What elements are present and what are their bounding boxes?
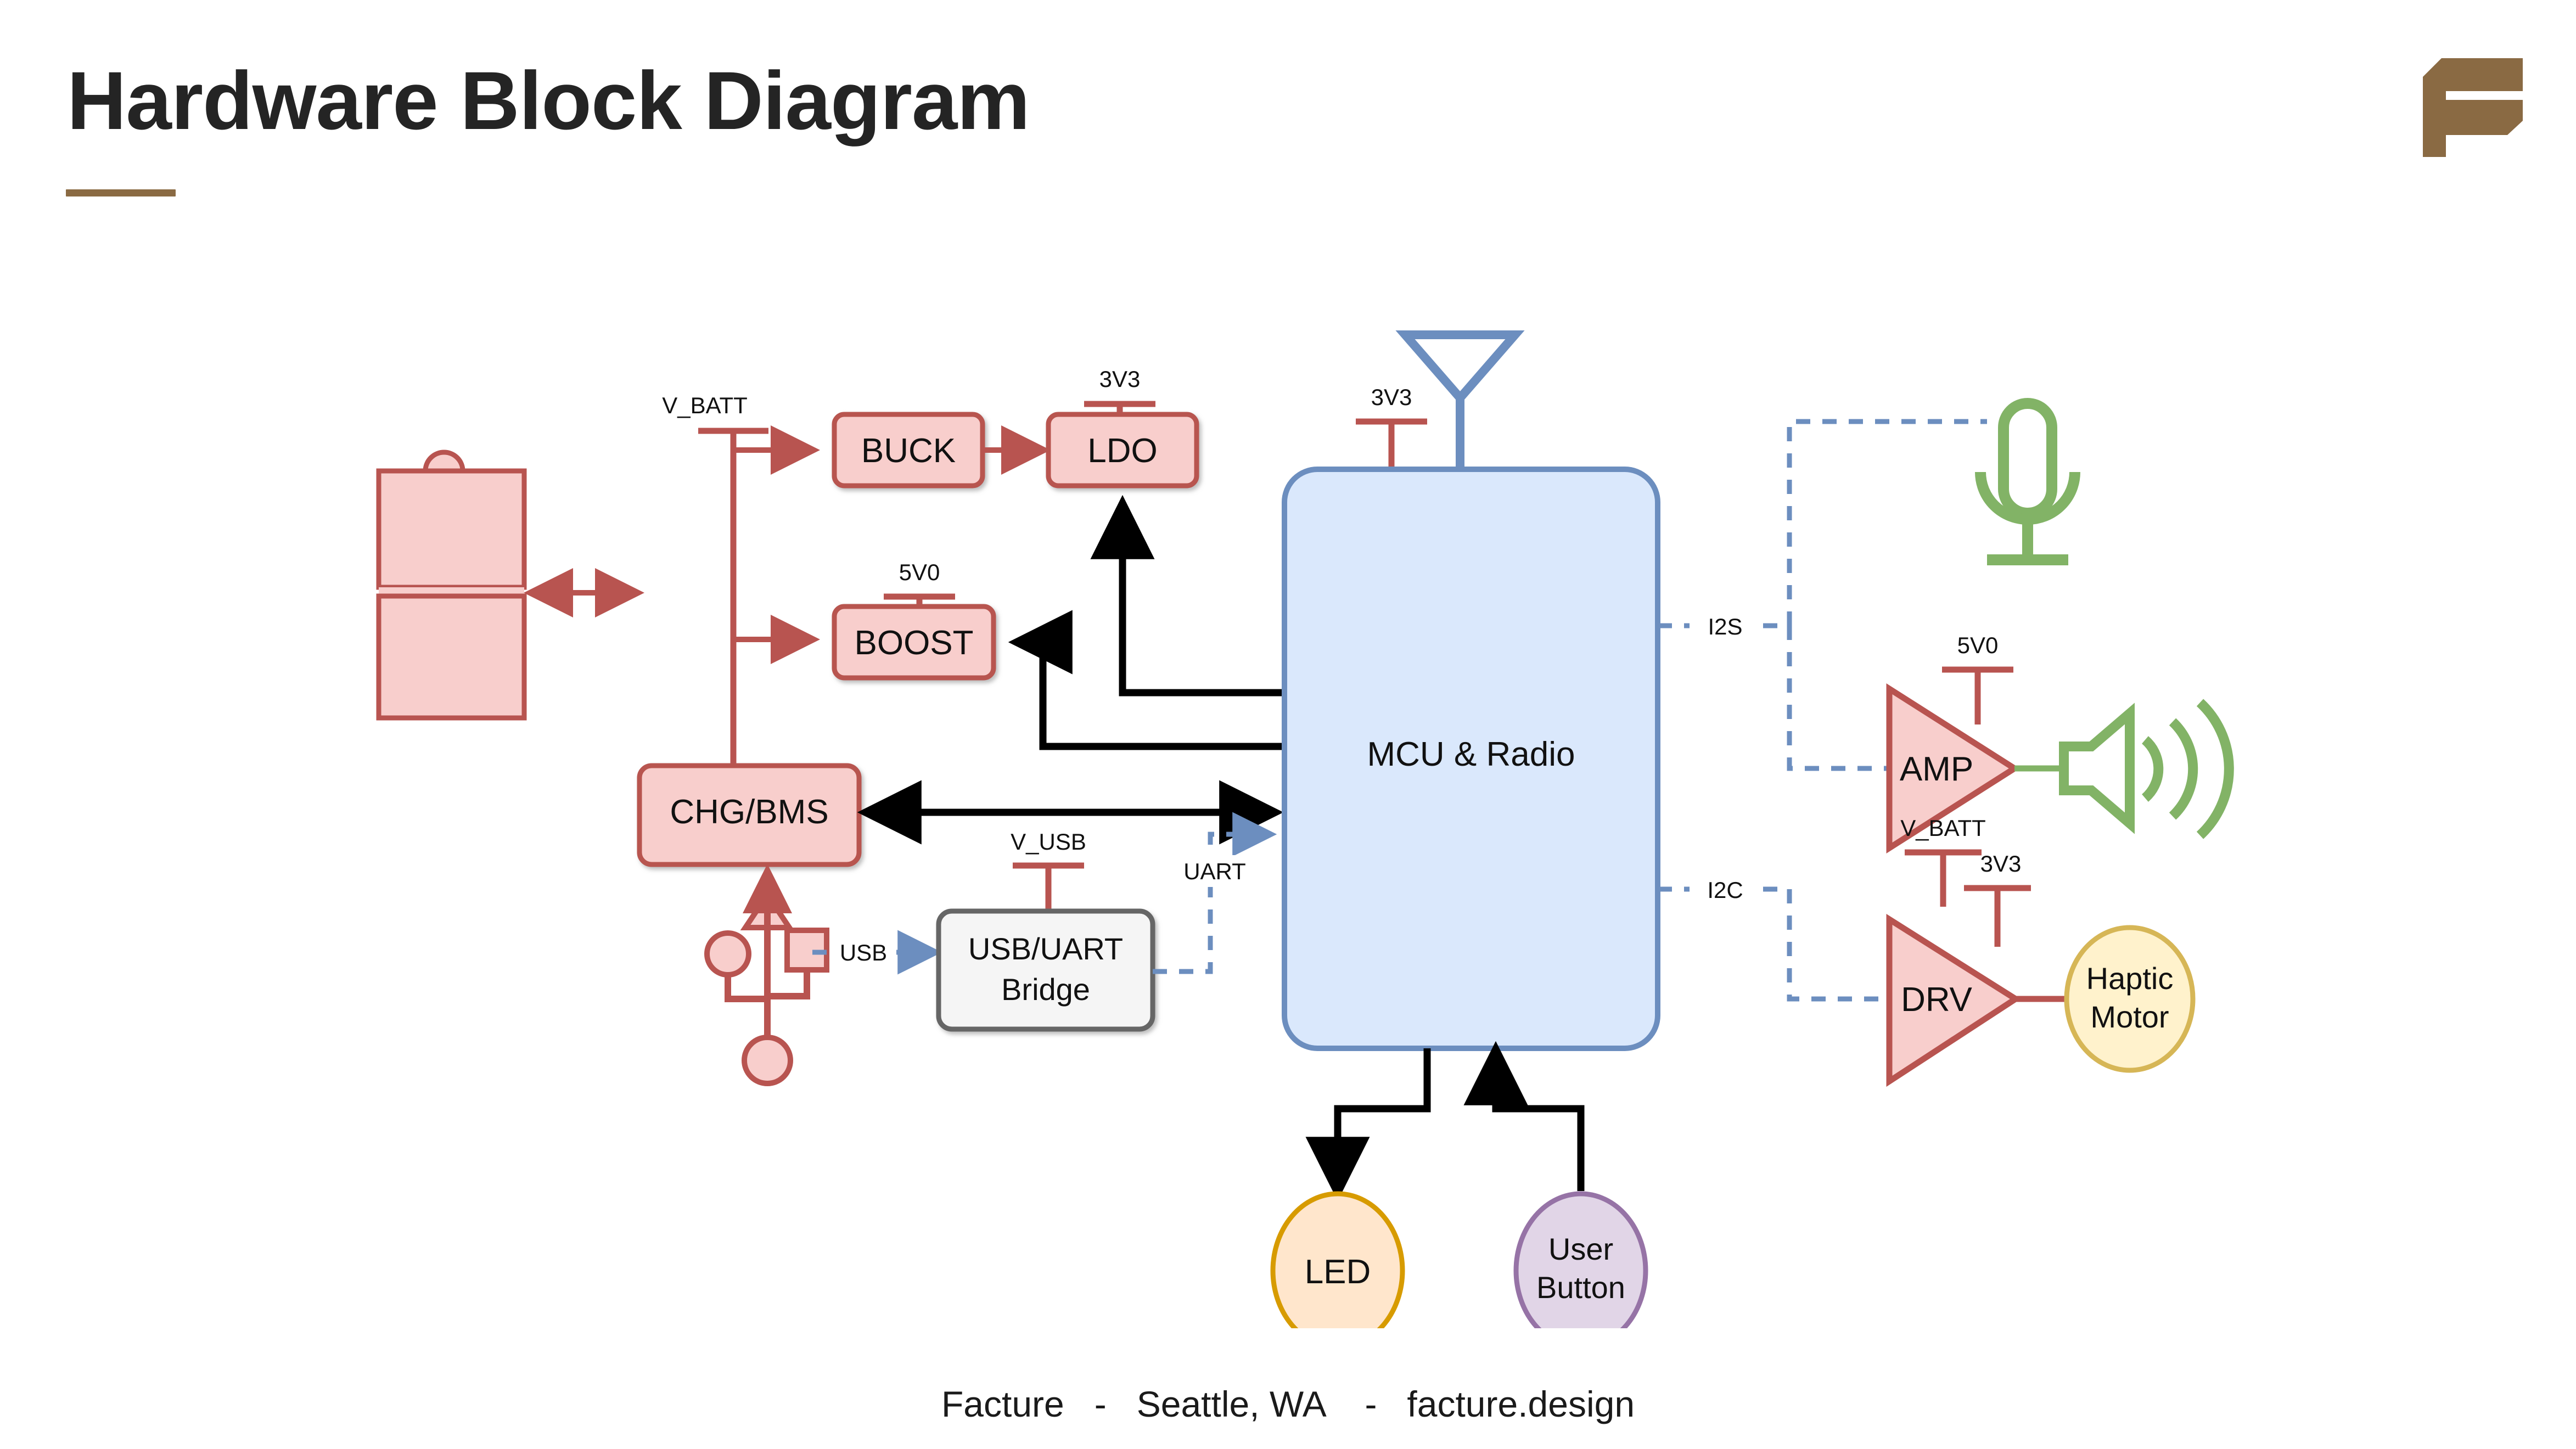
rail-label-v-batt: V_BATT	[662, 392, 748, 418]
block-buck[interactable]: BUCK	[834, 414, 983, 486]
block-label-amp: AMP	[1900, 750, 1973, 788]
block-haptic-motor[interactable]: Haptic Motor	[2067, 928, 2193, 1070]
rail-3v3-drv: 3V3	[1964, 851, 2031, 947]
block-chg-bms[interactable]: CHG/BMS	[639, 766, 859, 864]
rail-v-usb: V_USB	[1011, 829, 1086, 911]
bus-label-usb: USB	[840, 940, 887, 965]
block-label-haptic-2: Motor	[2090, 999, 2169, 1034]
rail-3v3-mcu: 3V3	[1356, 384, 1427, 469]
block-label-bridge-2: Bridge	[1001, 972, 1090, 1007]
block-label-mcu: MCU & Radio	[1367, 735, 1575, 773]
block-label-buck: BUCK	[861, 432, 956, 470]
speaker-icon	[2064, 703, 2229, 835]
microphone-icon	[1980, 403, 2075, 560]
wire-button-mcu	[1496, 1051, 1581, 1191]
rail-label-mcu-3v3: 3V3	[1371, 384, 1412, 410]
bus-label-i2c: I2C	[1707, 877, 1743, 903]
facture-f-logo	[2413, 43, 2534, 158]
block-label-led: LED	[1305, 1253, 1371, 1291]
rail-label-drv-v-batt: V_BATT	[1900, 815, 1986, 841]
rail-label-amp-5v0: 5V0	[1957, 632, 1999, 658]
bus-label-uart: UART	[1183, 858, 1246, 884]
wire-mcu-led	[1338, 1048, 1427, 1191]
block-mcu-radio[interactable]: MCU & Radio	[1284, 469, 1658, 1048]
wire-mcu-ldo	[1123, 505, 1284, 693]
bus-uart: UART	[1153, 834, 1268, 971]
rail-label-drv-3v3: 3V3	[1980, 851, 2022, 877]
slide-canvas: Hardware Block Diagram	[0, 0, 2576, 1449]
rail-5v0-boost: 5V0	[884, 559, 955, 606]
block-user-button[interactable]: User Button	[1516, 1194, 1646, 1328]
block-led[interactable]: LED	[1273, 1194, 1402, 1328]
block-label-button-1: User	[1548, 1232, 1613, 1266]
title-accent-rule	[66, 189, 176, 196]
block-usb-uart-bridge[interactable]: USB/UART Bridge	[939, 911, 1153, 1029]
footer-text: Facture - Seattle, WA - facture.design	[0, 1383, 2576, 1425]
battery-icon	[379, 452, 524, 718]
block-label-haptic-1: Haptic	[2086, 961, 2174, 996]
block-label-ldo: LDO	[1087, 432, 1157, 470]
block-label-button-2: Button	[1536, 1270, 1625, 1305]
rail-v-batt-drv: V_BATT	[1900, 815, 1986, 907]
block-label-chg-bms: CHG/BMS	[670, 793, 828, 831]
bus-label-i2s: I2S	[1708, 614, 1742, 639]
block-boost[interactable]: BOOST	[834, 606, 994, 678]
block-ldo[interactable]: LDO	[1048, 414, 1197, 486]
rail-3v3-ldo: 3V3	[1084, 366, 1155, 414]
rail-5v0-amp: 5V0	[1942, 632, 2013, 724]
block-label-drv: DRV	[1901, 981, 1972, 1019]
page-title: Hardware Block Diagram	[67, 59, 1030, 142]
bus-i2c: I2C	[1658, 874, 1888, 999]
rail-label-boost-5v0: 5V0	[899, 559, 940, 585]
rail-label-v-usb: V_USB	[1011, 829, 1086, 855]
hardware-block-diagram: V_BATT BUCK 3V3 LDO 5V0	[0, 285, 2576, 1328]
usb-connector-icon	[707, 895, 827, 1083]
block-label-bridge-1: USB/UART	[968, 931, 1123, 966]
antenna-icon	[1405, 335, 1515, 469]
bus-usb: USB	[812, 936, 933, 967]
block-label-boost: BOOST	[854, 624, 973, 662]
rail-label-ldo-3v3: 3V3	[1099, 366, 1141, 392]
